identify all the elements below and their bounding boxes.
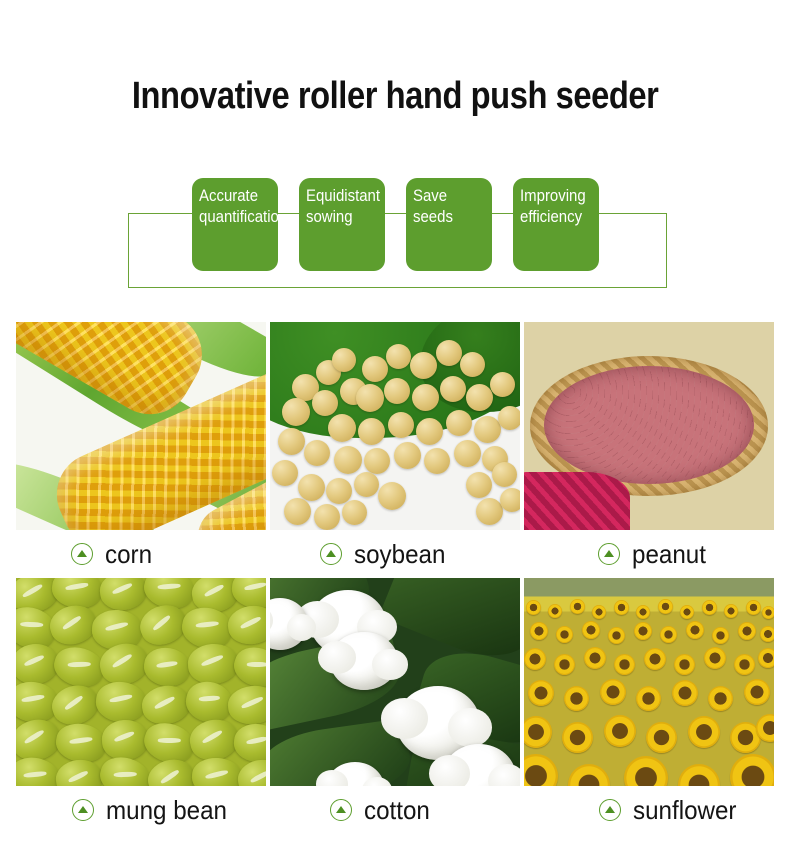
- crop-photo-soybean: [270, 322, 520, 530]
- feature-badge-save-seeds[interactable]: Save seeds: [406, 178, 492, 271]
- chevron-up-circle-icon: [599, 799, 621, 821]
- crop-cell-cotton: cotton: [270, 578, 520, 834]
- crop-cell-mung-bean: mung bean: [16, 578, 266, 834]
- crop-caption-soybean: soybean: [270, 530, 520, 578]
- feature-badge-label: Equidistant sowing: [306, 185, 370, 227]
- chevron-up-circle-icon: [320, 543, 342, 565]
- crop-photo-sunflower: [524, 578, 774, 786]
- page-title-container: Innovative roller hand push seeder: [0, 72, 790, 120]
- crop-cell-corn: corn: [16, 322, 266, 578]
- crop-photo-corn: [16, 322, 266, 530]
- crop-grid-row: mung bean cotton: [16, 578, 774, 834]
- crop-caption-corn: corn: [16, 530, 266, 578]
- crop-photo-peanut: [524, 322, 774, 530]
- chevron-up-circle-icon: [71, 543, 93, 565]
- feature-badge-improving-efficiency[interactable]: Improving efficiency: [513, 178, 599, 271]
- crop-photo-cotton: [270, 578, 520, 786]
- crop-cell-sunflower: sunflower: [524, 578, 774, 834]
- crop-label: sunflower: [633, 796, 736, 824]
- crop-caption-sunflower: sunflower: [524, 786, 774, 834]
- crop-grid: corn: [16, 322, 774, 834]
- crop-cell-soybean: soybean: [270, 322, 520, 578]
- chevron-up-circle-icon: [330, 799, 352, 821]
- crop-caption-peanut: peanut: [524, 530, 774, 578]
- chevron-up-circle-icon: [598, 543, 620, 565]
- feature-badge-equidistant-sowing[interactable]: Equidistant sowing: [299, 178, 385, 271]
- chevron-up-circle-icon: [72, 799, 94, 821]
- crop-label: soybean: [354, 540, 445, 568]
- feature-badge-label: Accurate quantification: [199, 185, 263, 227]
- crop-caption-mung-bean: mung bean: [16, 786, 266, 834]
- feature-badge-list: Accurate quantification Equidistant sowi…: [192, 178, 602, 271]
- crop-label: cotton: [364, 796, 430, 824]
- feature-badge-label: Save seeds: [413, 185, 477, 227]
- crop-caption-cotton: cotton: [270, 786, 520, 834]
- crop-cell-peanut: peanut: [524, 322, 774, 578]
- page-title: Innovative roller hand push seeder: [132, 72, 659, 120]
- crop-label: mung bean: [106, 796, 227, 824]
- crop-grid-row: corn: [16, 322, 774, 578]
- feature-badge-label: Improving efficiency: [520, 185, 584, 227]
- crop-photo-mung-bean: [16, 578, 266, 786]
- crop-label: corn: [105, 540, 152, 568]
- feature-badge-accurate-quantification[interactable]: Accurate quantification: [192, 178, 278, 271]
- crop-label: peanut: [632, 540, 706, 568]
